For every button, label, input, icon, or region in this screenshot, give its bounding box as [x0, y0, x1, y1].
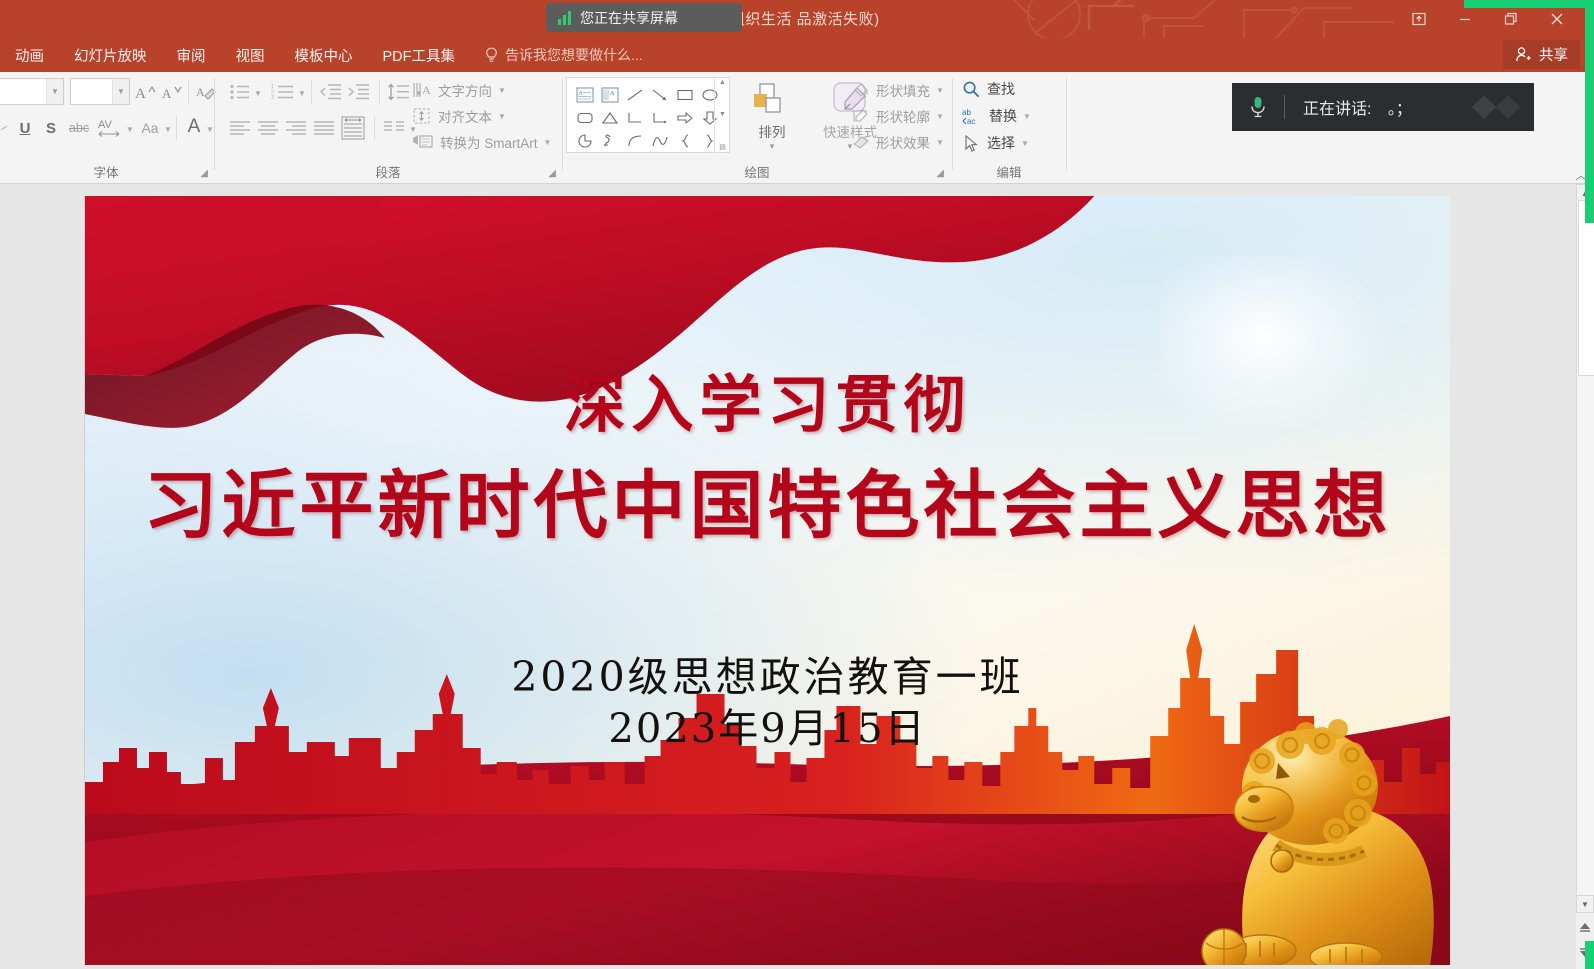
decrease-font-size-button[interactable]: A — [158, 80, 184, 104]
tab-template-center[interactable]: 模板中心 — [280, 38, 368, 72]
group-label-editing: 编辑 — [954, 162, 1064, 181]
tab-slideshow[interactable]: 幻灯片放映 — [59, 38, 162, 72]
arc-shape[interactable] — [623, 129, 647, 152]
rounded-rectangle-shape[interactable] — [573, 106, 597, 129]
vertical-scroll-rail: ︿ ▲ ▼ — [1576, 184, 1594, 969]
chevron-down-icon[interactable]: ▼ — [46, 79, 63, 104]
shape-outline-button[interactable]: 形状轮廓 ▼ — [852, 106, 944, 126]
divider — [374, 116, 375, 140]
replace-label: 替换 — [989, 106, 1017, 126]
line-spacing-button[interactable] — [384, 80, 414, 104]
svg-text:A: A — [610, 91, 615, 97]
speaking-value: 。； — [1376, 101, 1412, 118]
svg-text:A: A — [579, 90, 584, 96]
chevron-down-icon[interactable]: ▼ — [768, 142, 776, 151]
divider — [562, 78, 563, 170]
group-label-paragraph: 段落 — [216, 162, 560, 181]
scroll-track[interactable] — [1576, 200, 1594, 909]
text-direction-button[interactable]: A 文字方向 ▼ — [412, 80, 506, 100]
microphone-icon[interactable] — [1232, 95, 1284, 119]
group-label-drawing: 绘图 — [564, 162, 950, 181]
chevron-down-icon[interactable]: ▼ — [936, 86, 944, 95]
align-center-button[interactable] — [254, 116, 282, 140]
arrange-button[interactable]: 排列 ▼ — [740, 82, 804, 151]
svg-text:3: 3 — [271, 95, 274, 101]
share-button[interactable]: 共享 — [1503, 40, 1580, 69]
screen-share-border-top — [1464, 0, 1594, 8]
svg-text:A: A — [162, 86, 172, 101]
strikethrough-button[interactable]: abc — [64, 116, 94, 140]
svg-text:ab: ab — [962, 108, 971, 117]
vertical-text-box-shape[interactable]: A — [598, 83, 622, 106]
select-label: 选择 — [987, 133, 1015, 153]
shape-row — [573, 106, 723, 129]
drawing-dialog-launcher[interactable]: ◢ — [936, 168, 944, 179]
text-direction-icon: A — [412, 81, 432, 99]
divider — [1066, 78, 1067, 170]
slide-canvas[interactable]: 深入学习贯彻 习近平新时代中国特色社会主义思想 2020级思想政治教育一班 20… — [84, 196, 1450, 965]
share-button-label: 共享 — [1539, 44, 1568, 65]
align-text-button[interactable]: 对齐文本 ▼ — [412, 106, 506, 126]
text-box-shape[interactable]: A — [573, 83, 597, 106]
screen-share-toast[interactable]: 您正在共享屏幕 — [546, 3, 742, 32]
screen-share-toast-label: 您正在共享屏幕 — [580, 8, 678, 28]
divider — [176, 116, 177, 140]
numbering-button[interactable]: 123 — [268, 80, 298, 104]
elbow-connector-shape[interactable] — [623, 106, 647, 129]
previous-slide-icon[interactable] — [1576, 915, 1594, 939]
chevron-down-icon[interactable]: ▼ — [936, 138, 944, 147]
find-button[interactable]: 查找 — [962, 79, 1015, 99]
signal-bars-icon — [558, 11, 571, 25]
slide-workspace: 深入学习贯彻 习近平新时代中国特色社会主义思想 2020级思想政治教育一班 20… — [0, 184, 1594, 969]
rectangle-shape[interactable] — [673, 83, 697, 106]
slide-subtitle-line1[interactable]: 2020级思想政治教育一班 — [85, 643, 1450, 703]
find-label: 查找 — [987, 79, 1015, 99]
shape-effects-button[interactable]: 形状效果 ▼ — [852, 132, 944, 152]
font-size-input[interactable]: ▼ — [70, 78, 130, 105]
gallery-scroll-up-icon[interactable]: ▲ — [719, 79, 726, 86]
svg-text:A: A — [422, 83, 431, 97]
group-label-font: 字体 — [0, 162, 212, 181]
bullets-button[interactable] — [226, 80, 254, 104]
meeting-app-logo-icon — [1468, 91, 1524, 125]
ribbon-tabs-bar: 动画 幻灯片放映 审阅 视图 模板中心 PDF工具集 告诉我您想要做什么... … — [0, 38, 1594, 72]
ribbon-group-font: ▼ ▼ A A A U S abc AV — [0, 72, 212, 184]
font-dialog-launcher[interactable]: ◢ — [200, 168, 208, 179]
arrange-icon — [752, 82, 792, 118]
shape-row: A A — [573, 83, 723, 106]
font-color-button[interactable]: A — [182, 114, 206, 140]
shape-outline-label: 形状轮廓 — [876, 106, 930, 126]
text-shadow-button[interactable]: S — [38, 116, 64, 140]
align-left-button[interactable] — [226, 116, 254, 140]
select-button[interactable]: 选择 ▼ — [962, 133, 1029, 153]
divider — [214, 78, 215, 170]
gallery-scroll-down-icon[interactable]: ▼ — [719, 111, 726, 118]
ribbon-display-options-icon[interactable] — [1396, 3, 1442, 35]
svg-text:AV: AV — [98, 119, 113, 131]
chevron-down-icon[interactable]: ▼ — [164, 125, 172, 134]
divider — [311, 80, 312, 104]
scribble-shape[interactable] — [598, 129, 622, 152]
slide-title-line1[interactable]: 深入学习贯彻 — [85, 354, 1450, 444]
speaking-status-overlay[interactable]: 正在讲话: 。； — [1232, 83, 1534, 131]
chevron-down-icon[interactable]: ▼ — [498, 112, 506, 121]
tab-animations[interactable]: 动画 — [0, 38, 59, 72]
pie-shape[interactable] — [573, 129, 597, 152]
screen-share-border-nub — [1585, 941, 1594, 969]
slide-title-line2[interactable]: 习近平新时代中国特色社会主义思想 — [85, 446, 1450, 553]
chevron-down-icon[interactable]: ▼ — [498, 86, 506, 95]
divider — [952, 78, 953, 170]
divider — [379, 80, 380, 104]
elbow-arrow-connector-shape[interactable] — [648, 106, 672, 129]
chevron-down-icon[interactable]: ▼ — [112, 79, 129, 104]
increase-indent-button[interactable] — [344, 80, 372, 104]
ribbon-group-drawing: A A — [564, 72, 950, 184]
convert-smartart-button[interactable]: 转换为 SmartArt ▼ — [412, 132, 551, 152]
chevron-down-icon[interactable]: ▼ — [1021, 139, 1029, 148]
left-brace-shape[interactable] — [673, 129, 697, 152]
shape-effects-label: 形状效果 — [876, 132, 930, 152]
gallery-more-icon[interactable]: ▤ — [719, 143, 726, 151]
chevron-down-icon[interactable]: ▼ — [936, 112, 944, 121]
scroll-down-button[interactable]: ▼ — [1576, 895, 1594, 913]
window-title: 党组织生活 品激活失败) — [0, 8, 1594, 29]
ribbon-tabs: 动画 幻灯片放映 审阅 视图 模板中心 PDF工具集 告诉我您想要做什么... — [0, 38, 643, 72]
tab-review[interactable]: 审阅 — [162, 38, 221, 72]
lightbulb-icon — [484, 47, 499, 64]
chevron-down-icon[interactable]: ▼ — [298, 89, 306, 98]
line-shape[interactable] — [623, 83, 647, 106]
shape-effects-icon — [852, 133, 870, 151]
chevron-down-icon[interactable]: ▼ — [126, 125, 134, 134]
chevron-down-icon[interactable]: ▼ — [544, 138, 552, 147]
increase-font-size-button[interactable]: A — [132, 80, 158, 104]
shape-fill-button[interactable]: 形状填充 ▼ — [852, 80, 944, 100]
tell-me-placeholder: 告诉我您想要做什么... — [505, 45, 643, 65]
cursor-select-icon — [962, 134, 981, 153]
pen-outline-icon — [852, 107, 870, 125]
divider — [188, 80, 189, 104]
svg-text:A: A — [196, 85, 205, 99]
font-name-input[interactable]: ▼ — [0, 78, 64, 105]
character-spacing-button[interactable]: AV — [94, 115, 126, 141]
scroll-thumb[interactable] — [1578, 200, 1594, 376]
chevron-down-icon[interactable]: ▼ — [254, 89, 262, 98]
decrease-indent-button[interactable] — [316, 80, 344, 104]
right-arrow-shape[interactable] — [673, 106, 697, 129]
scroll-down-label: ▼ — [1581, 900, 1589, 909]
align-text-icon — [412, 107, 432, 125]
chevron-down-icon[interactable]: ▼ — [1023, 112, 1031, 121]
svg-text:A: A — [135, 86, 146, 101]
align-right-button[interactable] — [282, 116, 310, 140]
tell-me-search[interactable]: 告诉我您想要做什么... — [470, 45, 643, 65]
tab-pdf-tools[interactable]: PDF工具集 — [368, 38, 471, 72]
replace-icon: ab ac — [962, 107, 983, 126]
arrange-label: 排列 — [759, 121, 786, 141]
triangle-shape[interactable] — [598, 106, 622, 129]
chevron-down-icon[interactable]: ▼ — [206, 125, 214, 134]
paragraph-dialog-launcher[interactable]: ◢ — [548, 168, 556, 179]
person-add-icon — [1515, 46, 1532, 63]
replace-button[interactable]: ab ac 替换 ▼ — [962, 106, 1031, 126]
justify-button[interactable] — [310, 116, 338, 140]
shape-row — [573, 129, 723, 152]
align-text-label: 对齐文本 — [438, 106, 492, 126]
screen-share-border-right — [1585, 0, 1594, 223]
speaking-label: 正在讲话: — [1303, 101, 1371, 118]
shape-fill-label: 形状填充 — [876, 80, 930, 100]
arrow-shape[interactable] — [648, 83, 672, 106]
title-bar: 党组织生活 品激活失败) — [0, 0, 1594, 38]
shapes-gallery[interactable]: A A — [566, 77, 730, 153]
paint-bucket-icon — [852, 81, 870, 99]
columns-button[interactable] — [380, 116, 408, 140]
smartart-icon — [412, 133, 434, 151]
tab-view[interactable]: 视图 — [221, 38, 280, 72]
ribbon-group-paragraph: ▼ 123 ▼ ▼ A 文字方向 — [216, 72, 560, 184]
change-case-button[interactable]: Aa — [136, 116, 164, 140]
slide-subtitle-line2[interactable]: 2023年9月15日 — [85, 696, 1450, 754]
curve-shape[interactable] — [648, 129, 672, 152]
text-direction-label: 文字方向 — [438, 80, 492, 100]
distribute-button[interactable] — [338, 114, 368, 142]
svg-text:ac: ac — [967, 117, 975, 126]
powerpoint-window: 党组织生活 品激活失败) 您正在共享屏幕 动画 幻灯片放映 — [0, 0, 1594, 969]
underline-button[interactable]: U — [12, 116, 38, 140]
shapes-gallery-scrollbar[interactable]: ▲ ▼ ▤ — [714, 77, 730, 153]
search-icon — [962, 80, 981, 99]
ribbon-group-editing: 查找 ab ac 替换 ▼ 选择 ▼ 编辑 — [954, 72, 1064, 184]
speaking-status-text: 正在讲话: 。； — [1285, 95, 1412, 119]
convert-smartart-label: 转换为 SmartArt — [440, 132, 538, 152]
